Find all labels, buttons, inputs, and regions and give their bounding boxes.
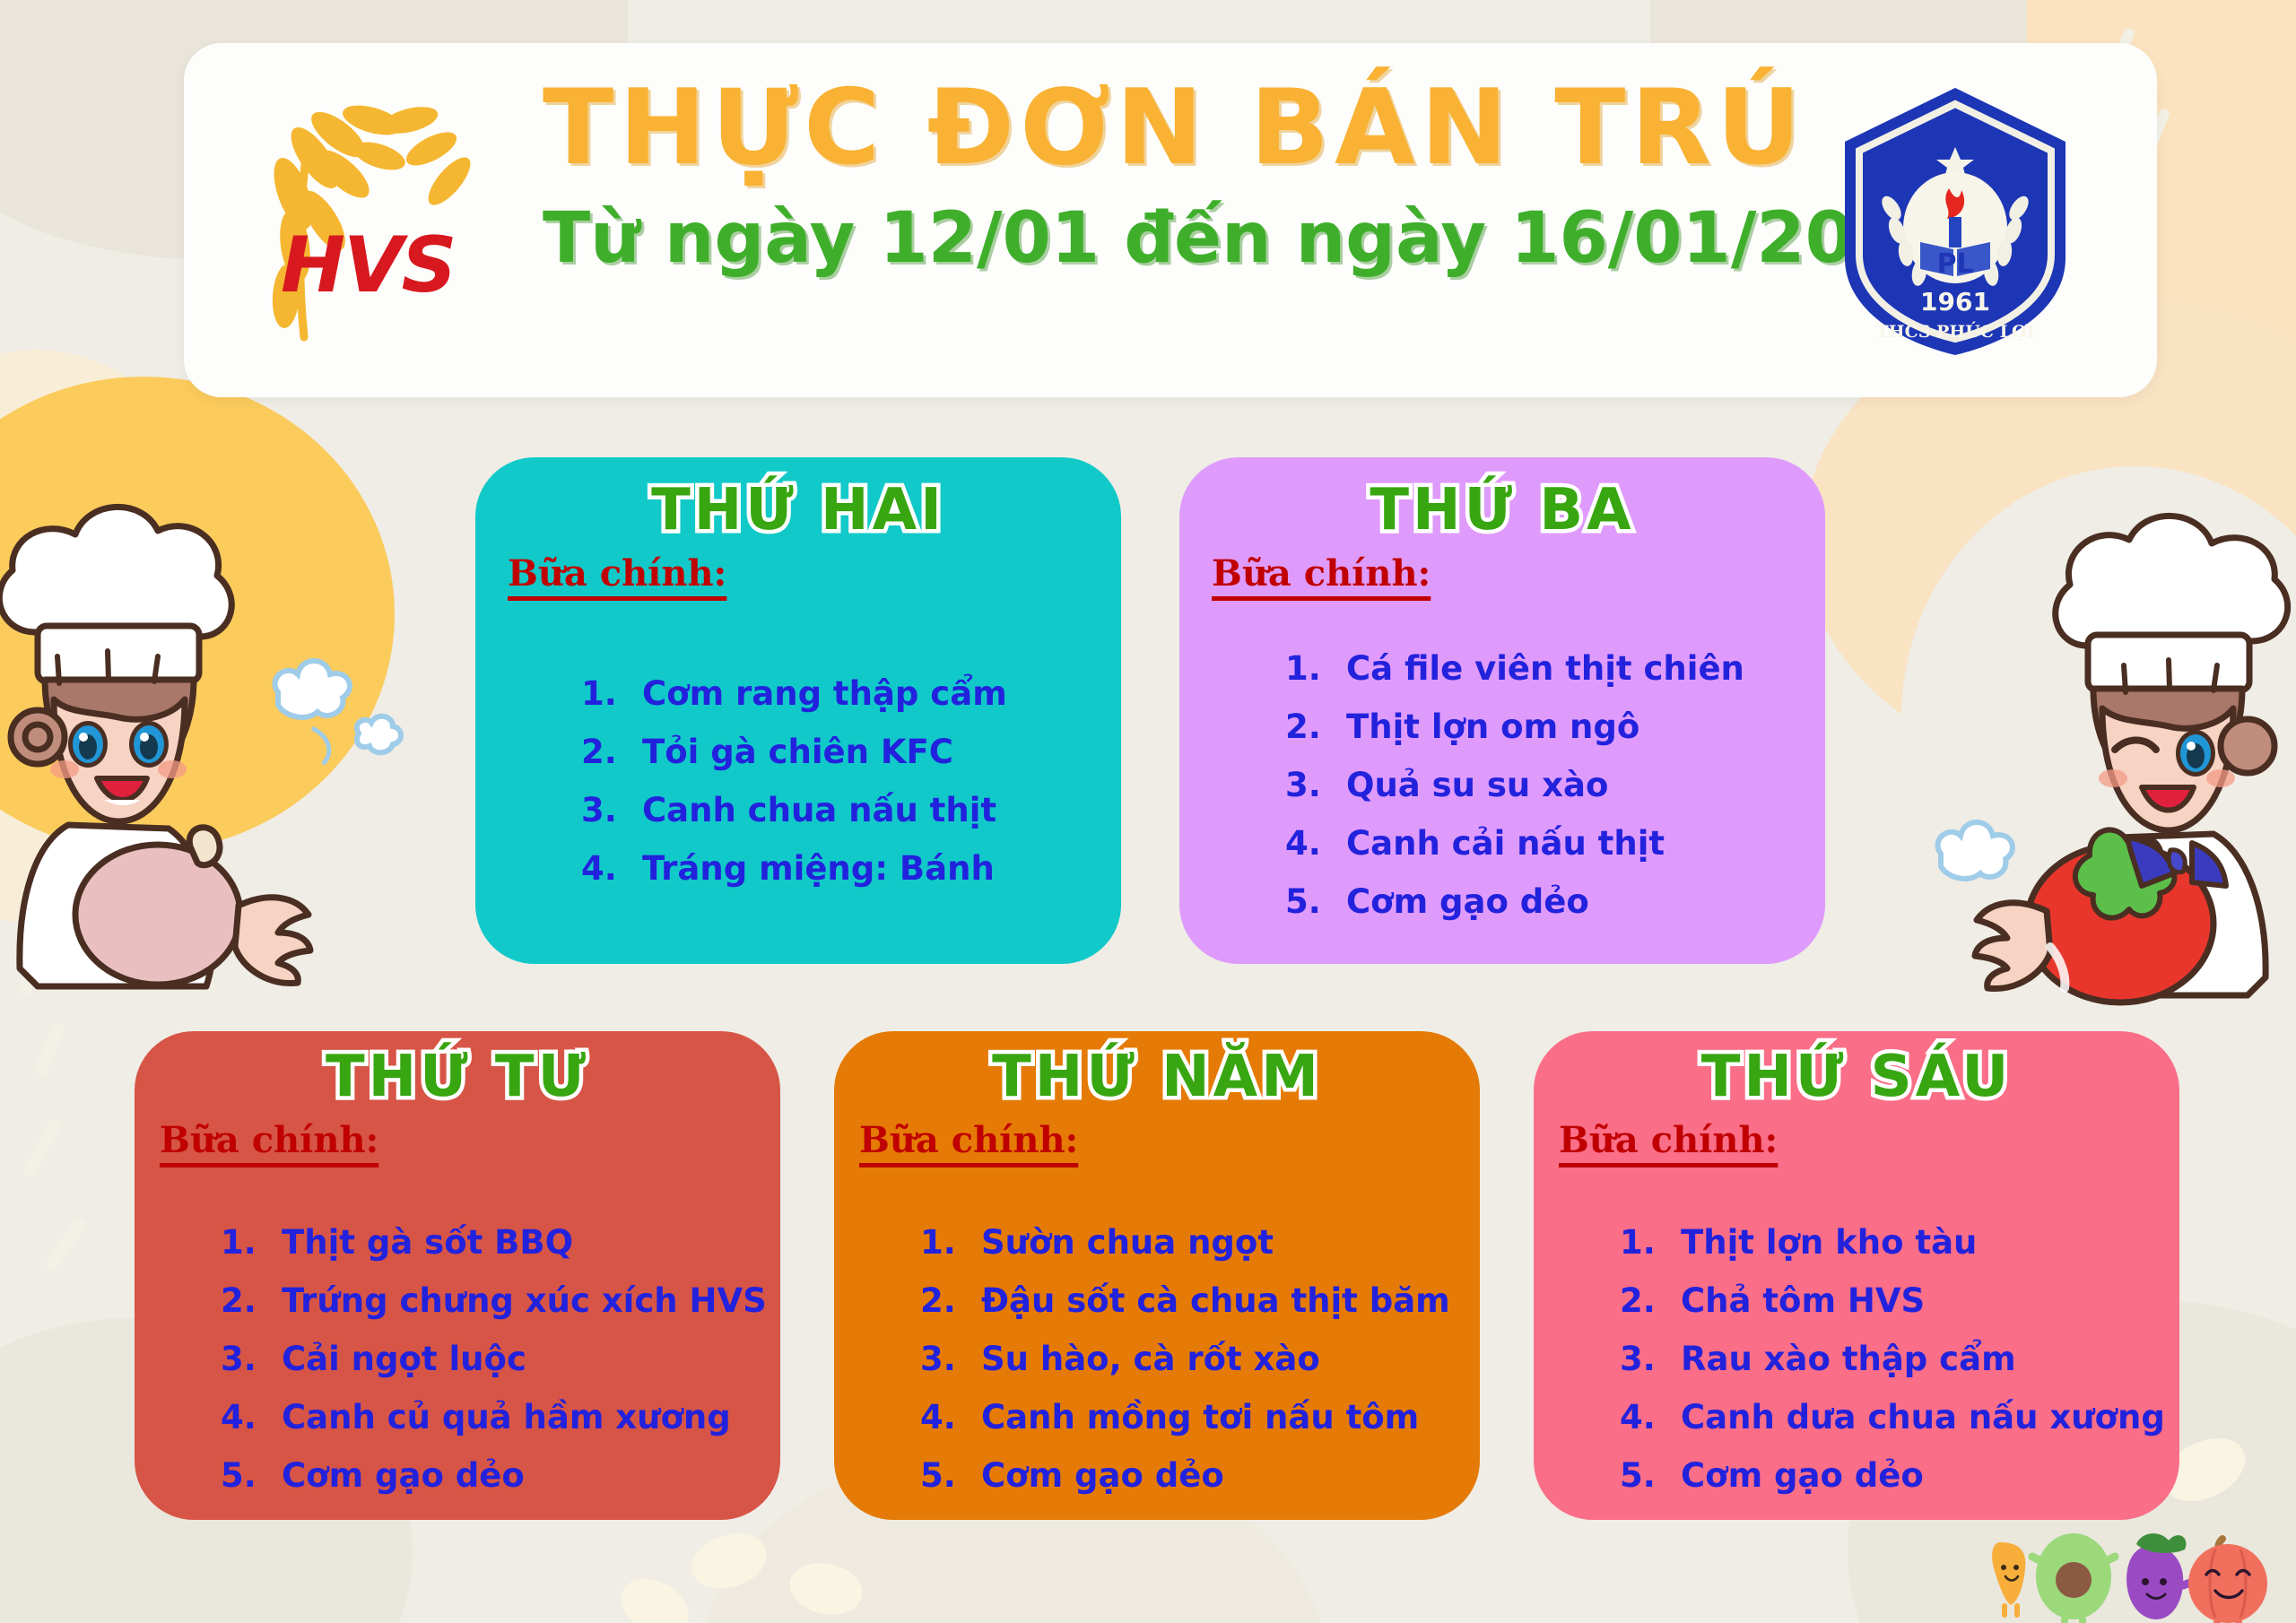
school-founding-year: 1961 — [1920, 287, 1990, 317]
list-item: 1.Sườn chua ngọt — [920, 1226, 1480, 1259]
day-title-thursday: THỨ NĂM — [834, 1044, 1480, 1110]
dish-text: Canh mồng tơi nấu tôm — [981, 1401, 1419, 1434]
pumpkin-icon — [2188, 1539, 2267, 1623]
dish-text: Cơm gạo dẻo — [981, 1459, 1224, 1492]
chef-right-mascot — [1883, 457, 2296, 1031]
list-item: 1.Cơm rang thập cẩm — [581, 677, 1121, 710]
day-card-thursday: THỨ NĂM Bữa chính: 1.Sườn chua ngọt 2.Đậ… — [834, 1031, 1480, 1520]
list-item: 2.Tỏi gà chiên KFC — [581, 735, 1121, 768]
decor-seed — [785, 1557, 867, 1621]
day-card-tuesday: THỨ BA Bữa chính: 1.Cá file viên thịt ch… — [1179, 457, 1825, 964]
list-item: 4.Canh cải nấu thịt — [1285, 827, 1825, 860]
list-item: 2.Trứng chưng xúc xích HVS — [221, 1284, 780, 1317]
meal-label-thursday: Bữa chính: — [859, 1119, 1480, 1161]
list-item: 1.Thịt gà sốt BBQ — [221, 1226, 780, 1259]
dish-list-wednesday: 1.Thịt gà sốt BBQ 2.Trứng chưng xúc xích… — [135, 1226, 780, 1492]
list-item: 2.Đậu sốt cà chua thịt băm — [920, 1284, 1480, 1317]
list-item: 2.Thịt lợn om ngô — [1285, 710, 1825, 743]
header-card: HVS THỰC ĐƠN BÁN TRÚ Từ ngày 12/01 đến n… — [184, 43, 2157, 397]
carrot-icon — [1992, 1542, 2025, 1618]
decor-dash — [43, 1217, 88, 1272]
dish-text: Cơm gạo dẻo — [282, 1459, 525, 1492]
day-title-friday: THỨ SÁU — [1534, 1044, 2179, 1110]
day-card-wednesday: THỨ TƯ Bữa chính: 1.Thịt gà sốt BBQ 2.Tr… — [135, 1031, 780, 1520]
date-range: Từ ngày 12/01 đến ngày 16/01/2026 — [543, 198, 1780, 279]
list-item: 5.Cơm gạo dẻo — [221, 1459, 780, 1492]
list-item: 4.Canh dưa chua nấu xương — [1620, 1401, 2179, 1434]
dish-text: Sườn chua ngọt — [981, 1226, 1274, 1259]
list-item: 5.Cơm gạo dẻo — [1620, 1459, 2179, 1492]
day-title-monday: THỨ HAI — [475, 477, 1121, 543]
hvs-wordmark: HVS — [281, 221, 455, 310]
dish-text: Cải ngọt luộc — [282, 1342, 526, 1376]
header-titles: THỰC ĐƠN BÁN TRÚ Từ ngày 12/01 đến ngày … — [543, 63, 1780, 279]
dish-text: Tỏi gà chiên KFC — [642, 735, 953, 768]
list-item: 3.Canh chua nấu thịt — [581, 794, 1121, 827]
avocado-icon — [2032, 1533, 2115, 1623]
day-title-tuesday: THỨ BA — [1179, 477, 1825, 543]
dish-list-thursday: 1.Sườn chua ngọt 2.Đậu sốt cà chua thịt … — [834, 1226, 1480, 1492]
list-item: 3.Rau xào thập cẩm — [1620, 1342, 2179, 1376]
decor-dash — [22, 1117, 62, 1178]
dish-text: Đậu sốt cà chua thịt băm — [981, 1284, 1450, 1317]
day-card-friday: THỨ SÁU Bữa chính: 1.Thịt lợn kho tàu 2.… — [1534, 1031, 2179, 1520]
school-name: THCS PHÚC LỢI — [1876, 321, 2035, 342]
school-shield-icon: PL 1961 THCS PHÚC LỢI — [1834, 82, 2076, 360]
day-title-wednesday: THỨ TƯ — [135, 1044, 780, 1110]
meal-label-friday: Bữa chính: — [1559, 1119, 2179, 1161]
dish-text: Canh cải nấu thịt — [1346, 827, 1665, 860]
list-item: 4.Canh mồng tơi nấu tôm — [920, 1401, 1480, 1434]
list-item: 3.Quả su su xào — [1285, 768, 1825, 802]
list-item: 5.Cơm gạo dẻo — [1285, 885, 1825, 918]
dish-list-tuesday: 1.Cá file viên thịt chiên 2.Thịt lợn om … — [1179, 652, 1825, 918]
dish-text: Thịt lợn om ngô — [1346, 710, 1639, 743]
meal-label-wednesday: Bữa chính: — [160, 1119, 780, 1161]
dish-text: Cơm rang thập cẩm — [642, 677, 1007, 710]
page-title: THỰC ĐƠN BÁN TRÚ — [543, 63, 1780, 193]
dish-text: Tráng miệng: Bánh — [642, 852, 995, 885]
chef-left-mascot — [0, 448, 404, 1022]
list-item: 4.Canh củ quả hầm xương — [221, 1401, 780, 1434]
school-monogram: PL — [1936, 248, 1973, 280]
dish-text: Cá file viên thịt chiên — [1346, 652, 1744, 685]
list-item: 3.Su hào, cà rốt xào — [920, 1342, 1480, 1376]
day-card-monday: THỨ HAI Bữa chính: 1.Cơm rang thập cẩm 2… — [475, 457, 1121, 964]
decor-seed — [684, 1524, 774, 1598]
list-item: 1.Cá file viên thịt chiên — [1285, 652, 1825, 685]
meal-label-monday: Bữa chính: — [508, 552, 1121, 595]
menu-poster: HVS THỰC ĐƠN BÁN TRÚ Từ ngày 12/01 đến n… — [0, 0, 2296, 1623]
list-item: 1.Thịt lợn kho tàu — [1620, 1226, 2179, 1259]
list-item: 5.Cơm gạo dẻo — [920, 1459, 1480, 1492]
dish-text: Rau xào thập cẩm — [1681, 1342, 2016, 1376]
veggie-characters — [1984, 1515, 2271, 1623]
decor-dash — [33, 1022, 65, 1079]
school-logo: PL 1961 THCS PHÚC LỢI — [1834, 82, 2076, 360]
list-item: 4.Tráng miệng: Bánh — [581, 852, 1121, 885]
dish-text: Cơm gạo dẻo — [1681, 1459, 1924, 1492]
hvs-logo: HVS — [238, 88, 525, 348]
dish-text: Quả su su xào — [1346, 768, 1608, 802]
dish-list-friday: 1.Thịt lợn kho tàu 2.Chả tôm HVS 3.Rau x… — [1534, 1226, 2179, 1492]
dish-text: Canh chua nấu thịt — [642, 794, 996, 827]
dish-text: Su hào, cà rốt xào — [981, 1342, 1320, 1376]
dish-text: Chả tôm HVS — [1681, 1284, 1925, 1317]
dish-text: Canh dưa chua nấu xương — [1681, 1401, 2165, 1434]
eggplant-icon — [2126, 1533, 2197, 1619]
list-item: 3.Cải ngọt luộc — [221, 1342, 780, 1376]
dish-text: Thịt gà sốt BBQ — [282, 1226, 573, 1259]
dish-text: Canh củ quả hầm xương — [282, 1401, 731, 1434]
list-item: 2.Chả tôm HVS — [1620, 1284, 2179, 1317]
dish-text: Trứng chưng xúc xích HVS — [282, 1284, 767, 1317]
dish-list-monday: 1.Cơm rang thập cẩm 2.Tỏi gà chiên KFC 3… — [475, 677, 1121, 885]
dish-text: Cơm gạo dẻo — [1346, 885, 1589, 918]
decor-seed — [612, 1567, 699, 1623]
dish-text: Thịt lợn kho tàu — [1681, 1226, 1977, 1259]
meal-label-tuesday: Bữa chính: — [1212, 552, 1825, 595]
